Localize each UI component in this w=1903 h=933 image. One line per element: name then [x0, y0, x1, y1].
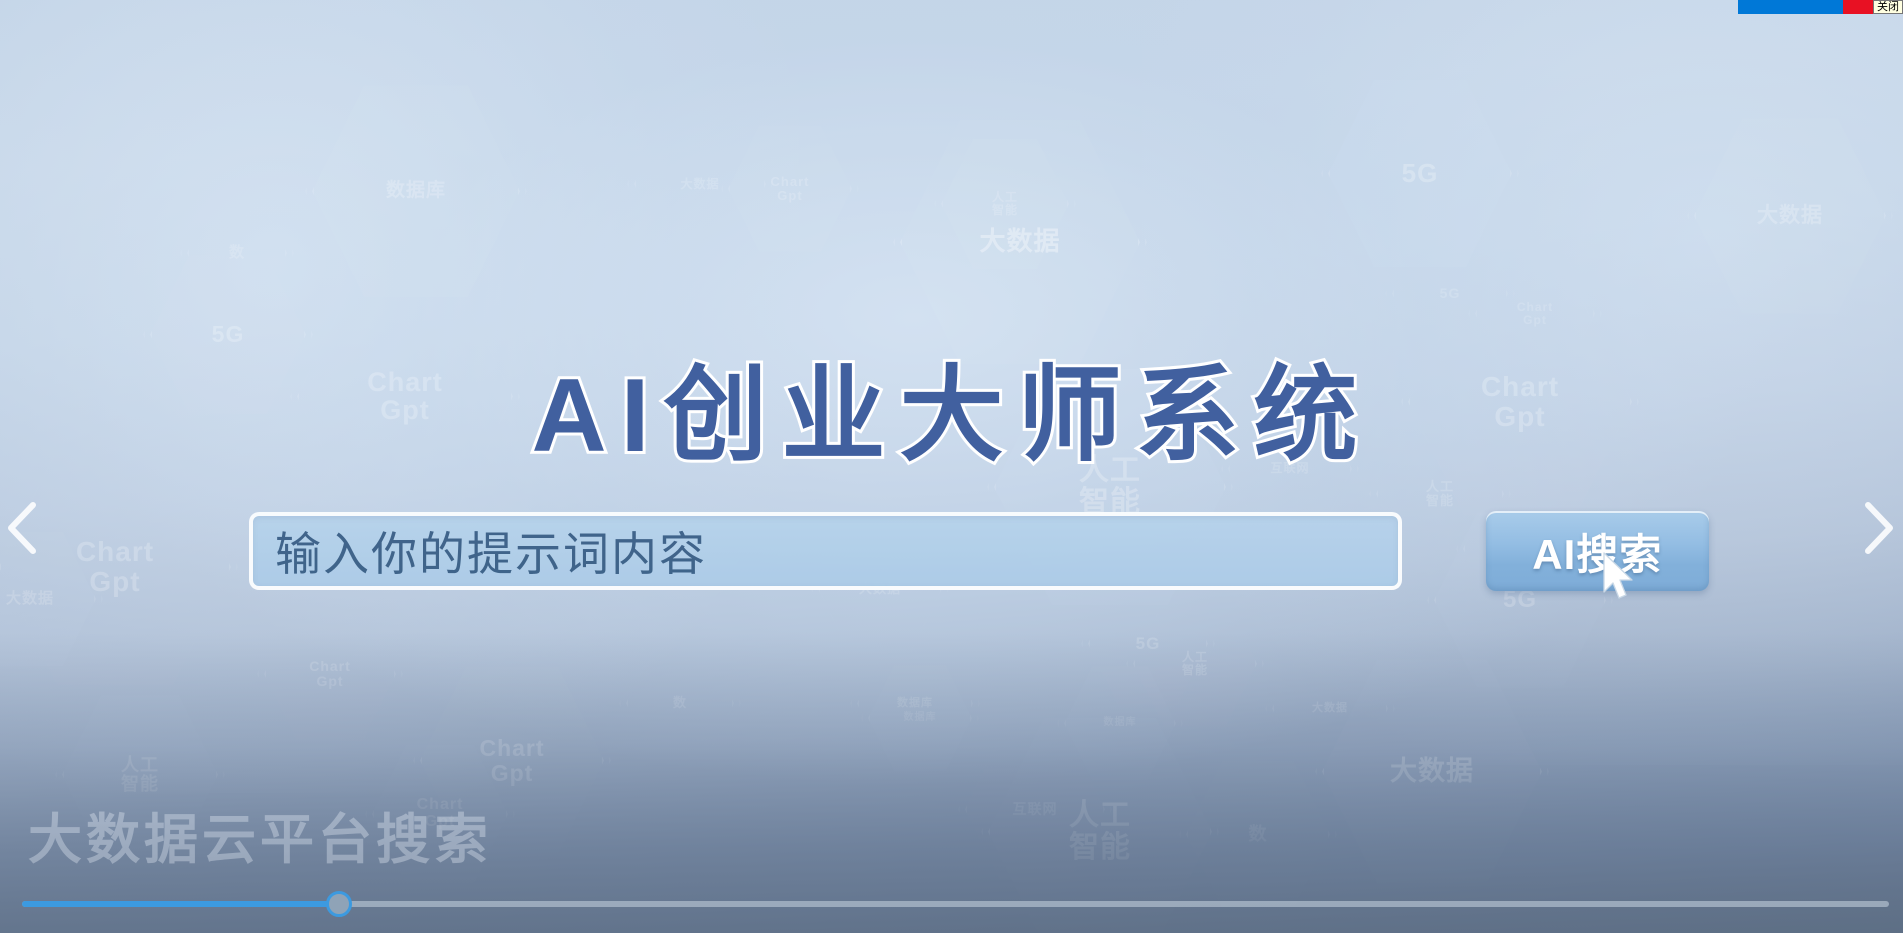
- close-tooltip: 关闭: [1873, 0, 1903, 14]
- carousel-prev-icon[interactable]: [2, 497, 48, 559]
- window-close-button[interactable]: [1843, 0, 1873, 14]
- slider-fill: [22, 901, 339, 907]
- ai-search-button-label: AI搜索: [1532, 521, 1662, 582]
- bottom-progress-slider[interactable]: [22, 893, 1889, 915]
- taskbar-strip: [1738, 0, 1843, 14]
- app-root: 数据库大数据Chart Gpt5G大数据人工 智能大数据5GChart Gpt5…: [0, 0, 1903, 933]
- page-title: AI创业大师系统: [0, 330, 1903, 481]
- ai-search-button[interactable]: AI搜索: [1486, 511, 1710, 591]
- search-input-placeholder: 输入你的提示词内容: [275, 518, 707, 584]
- window-chrome: 关闭: [1738, 0, 1903, 14]
- search-input[interactable]: 输入你的提示词内容: [249, 512, 1402, 590]
- carousel-next-icon[interactable]: [1853, 497, 1899, 559]
- slider-handle[interactable]: [326, 891, 352, 917]
- search-row: 输入你的提示词内容 AI搜索: [249, 508, 1709, 594]
